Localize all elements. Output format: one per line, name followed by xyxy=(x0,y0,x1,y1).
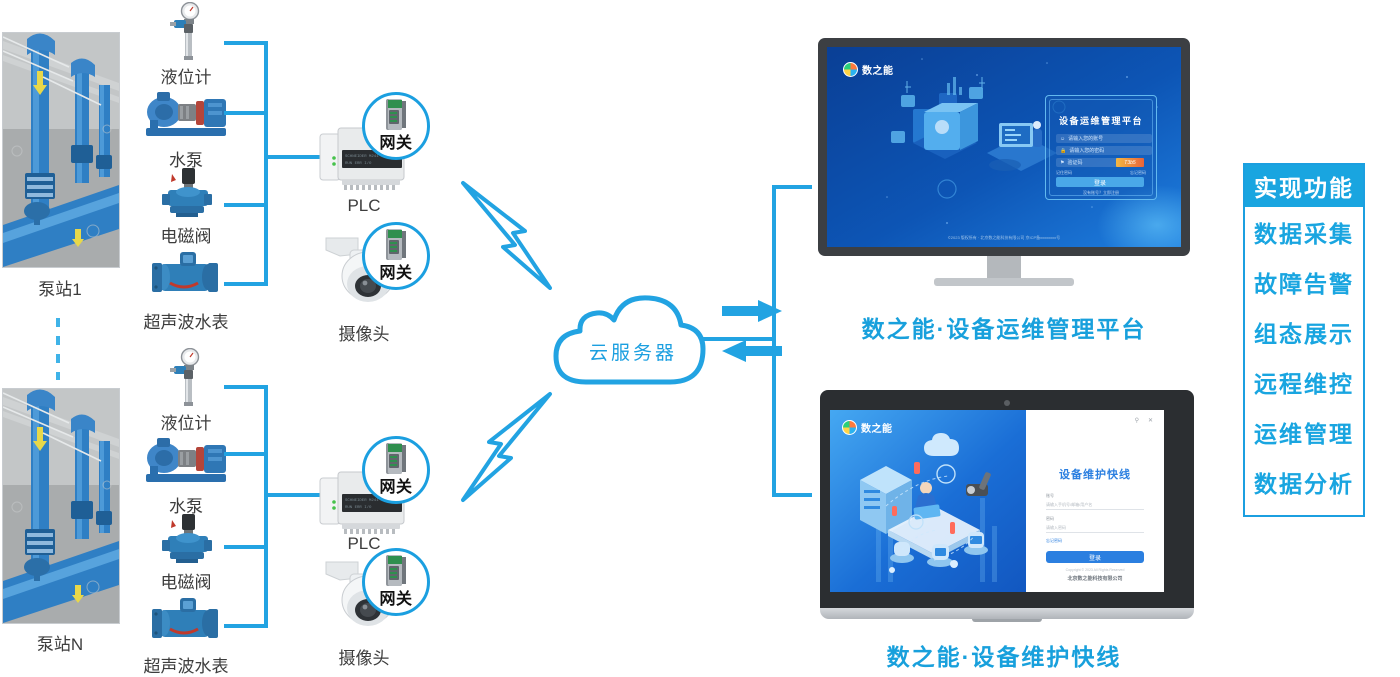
captcha-field[interactable]: ⚑ 验证码 xyxy=(1056,158,1120,167)
app-illustration-panel: 数之能 xyxy=(830,410,1026,592)
password-placeholder: 请输入您的密码 xyxy=(1069,147,1104,154)
feature-item-data-analysis[interactable]: 数据分析 xyxy=(1245,457,1363,507)
feature-item-scada-display[interactable]: 组态展示 xyxy=(1245,307,1363,357)
bus-branch-line xyxy=(224,452,268,456)
login-submit-button[interactable]: 登录 xyxy=(1056,177,1144,187)
close-icon[interactable]: ✕ xyxy=(1148,417,1156,424)
station-1-label: 泵站1 xyxy=(2,275,118,300)
sensor-label: 电磁阀 xyxy=(126,568,246,593)
feature-list: 实现功能 数据采集 故障告警 组态展示 远程维控 运维管理 数据分析 xyxy=(1243,163,1365,517)
lightning-bolt-icon xyxy=(455,155,590,290)
laptop-trackpad-notch xyxy=(972,619,1042,622)
platform-laptop-caption: 数之能·设备维护快线 xyxy=(822,638,1186,672)
architecture-diagram: 泵站1 xyxy=(0,0,1400,672)
bus-trunk-line xyxy=(264,41,268,286)
company-line: 北京数之能科技有限公司 xyxy=(1026,575,1164,582)
bus-branch-line xyxy=(224,282,268,286)
gateway-label: 网关 xyxy=(379,266,412,287)
app-logo-text: 数之能 xyxy=(862,62,894,77)
pump-station-photo xyxy=(2,388,120,624)
laptop-screen: 数之能 ⚲ ✕ 设备维护快线 账号 请输入手机号/邮箱/用户名 密码 请输入密码… xyxy=(830,410,1164,592)
bus-branch-line xyxy=(224,111,268,115)
level-gauge-icon xyxy=(146,2,226,60)
desktop-monitor: 数之能 设备运维管理平台 ☺ 请输入您的账号 🔒 请输入您的密码 ⚑ xyxy=(818,38,1190,270)
platform-bracket-arm xyxy=(772,493,812,497)
camera-label: 摄像头 xyxy=(318,644,410,669)
bus-branch-line xyxy=(224,203,268,207)
laptop-camera-icon xyxy=(1004,400,1010,406)
feature-item-fault-alarm[interactable]: 故障告警 xyxy=(1245,257,1363,307)
gateway-label: 网关 xyxy=(379,480,412,501)
monitor-screen: 数之能 设备运维管理平台 ☺ 请输入您的账号 🔒 请输入您的密码 ⚑ xyxy=(827,47,1181,247)
captcha-image[interactable]: T3b5 xyxy=(1116,158,1144,167)
password-field[interactable]: 🔒 请输入您的密码 xyxy=(1056,146,1152,155)
password-label: 密码 xyxy=(1046,516,1054,522)
gateway-label: 网关 xyxy=(379,136,412,157)
sensor-label: 液位计 xyxy=(126,63,246,88)
user-icon: ☺ xyxy=(1060,136,1065,142)
gateway-device-icon xyxy=(383,553,409,594)
pump-station-photo xyxy=(2,32,120,268)
brand-icon xyxy=(842,420,857,435)
gateway-device-icon xyxy=(383,441,409,482)
platform-bracket-arm xyxy=(772,185,812,189)
lightning-bolt-icon xyxy=(455,390,590,525)
account-label: 账号 xyxy=(1046,493,1054,499)
station-continuation-dashes xyxy=(56,318,60,380)
app-login-panel: ⚲ ✕ 设备维护快线 账号 请输入手机号/邮箱/用户名 密码 请输入密码 忘记密… xyxy=(1026,410,1164,592)
gateway-badge: 网关 xyxy=(362,548,426,614)
sensor-label: 电磁阀 xyxy=(126,222,246,247)
level-gauge-icon xyxy=(146,348,226,406)
monitor-stand-base xyxy=(934,278,1074,286)
water-pump-icon xyxy=(140,90,232,142)
bus-branch-line xyxy=(224,624,268,628)
forgot-password-link[interactable]: 忘记密码 xyxy=(1046,538,1062,544)
sensor-label: 超声波水表 xyxy=(116,652,256,677)
lock-icon: 🔒 xyxy=(1060,148,1066,154)
platform-bracket-line xyxy=(772,185,776,497)
sensor-label: 液位计 xyxy=(126,409,246,434)
laptop-device: 数之能 ⚲ ✕ 设备维护快线 账号 请输入手机号/邮箱/用户名 密码 请输入密码… xyxy=(820,390,1194,618)
sensor-label: 超声波水表 xyxy=(116,308,256,333)
water-pump-icon xyxy=(140,436,232,488)
forgot-password-link[interactable]: 忘记密码 xyxy=(1130,170,1146,176)
gateway-label: 网关 xyxy=(379,592,412,613)
copyright-line: Copyright © 2023 All Rights Reserved xyxy=(1026,568,1164,572)
plc-label: PLC xyxy=(318,196,410,216)
platform-monitor-caption: 数之能·设备运维管理平台 xyxy=(822,310,1186,344)
search-icon[interactable]: ⚲ xyxy=(1135,417,1142,424)
feature-item-ops-management[interactable]: 运维管理 xyxy=(1245,407,1363,457)
bus-branch-line xyxy=(224,385,268,389)
username-placeholder: 请输入您的账号 xyxy=(1068,135,1103,142)
bus-to-plc-line xyxy=(264,493,322,497)
laptop-base xyxy=(820,608,1194,619)
login-card: 设备运维管理平台 ☺ 请输入您的账号 🔒 请输入您的密码 ⚑ 验证码 T3b5 xyxy=(1045,95,1157,200)
gateway-badge: 网关 xyxy=(362,92,426,158)
solenoid-valve-icon xyxy=(158,514,216,564)
bus-to-plc-line xyxy=(264,155,322,159)
feature-item-data-collection[interactable]: 数据采集 xyxy=(1245,207,1363,257)
station-n-label: 泵站N xyxy=(2,630,118,655)
platform-bracket-stem xyxy=(700,337,776,341)
svg-text:RUN ERR I/O: RUN ERR I/O xyxy=(345,505,372,510)
login-title: 设备维护快线 xyxy=(1026,466,1164,482)
solenoid-valve-icon xyxy=(158,168,216,218)
ultrasonic-water-meter-icon xyxy=(146,250,224,302)
bus-branch-line xyxy=(224,41,268,45)
login-title: 设备运维管理平台 xyxy=(1046,114,1156,127)
bus-trunk-line xyxy=(264,385,268,628)
cloud-label: 云服务器 xyxy=(548,338,718,365)
brand-icon xyxy=(843,62,858,77)
username-field[interactable]: ☺ 请输入您的账号 xyxy=(1056,134,1152,143)
bus-branch-line xyxy=(224,545,268,549)
app-logo: 数之能 xyxy=(843,62,894,77)
account-input[interactable]: 请输入手机号/邮箱/用户名 xyxy=(1046,502,1144,510)
feature-list-header: 实现功能 xyxy=(1245,165,1363,207)
gateway-device-icon xyxy=(383,227,409,268)
password-input[interactable]: 请输入密码 xyxy=(1046,525,1144,533)
svg-text:RUN ERR I/O: RUN ERR I/O xyxy=(345,161,372,166)
register-link[interactable]: 没有账号？立即注册 xyxy=(1046,190,1156,196)
copyright-footer: ©2023 版权所有 · 北京数之能科技有限公司 京ICP备xxxxxxxx号 xyxy=(827,235,1181,241)
gateway-device-icon xyxy=(383,97,409,138)
camera-label: 摄像头 xyxy=(318,320,410,345)
gateway-badge: 网关 xyxy=(362,436,426,502)
app-logo: 数之能 xyxy=(842,420,893,435)
cloud-icon: 云服务器 xyxy=(548,290,718,390)
shield-icon: ⚑ xyxy=(1060,160,1064,166)
gateway-badge: 网关 xyxy=(362,222,426,288)
monitor-stand-neck xyxy=(987,256,1021,278)
feature-item-remote-control[interactable]: 远程维控 xyxy=(1245,357,1363,407)
captcha-placeholder: 验证码 xyxy=(1067,159,1082,166)
login-submit-button[interactable]: 登录 xyxy=(1046,551,1144,563)
remember-password-checkbox[interactable]: 记住密码 xyxy=(1056,170,1072,176)
ultrasonic-water-meter-icon xyxy=(146,596,224,648)
app-logo-text: 数之能 xyxy=(861,420,893,435)
